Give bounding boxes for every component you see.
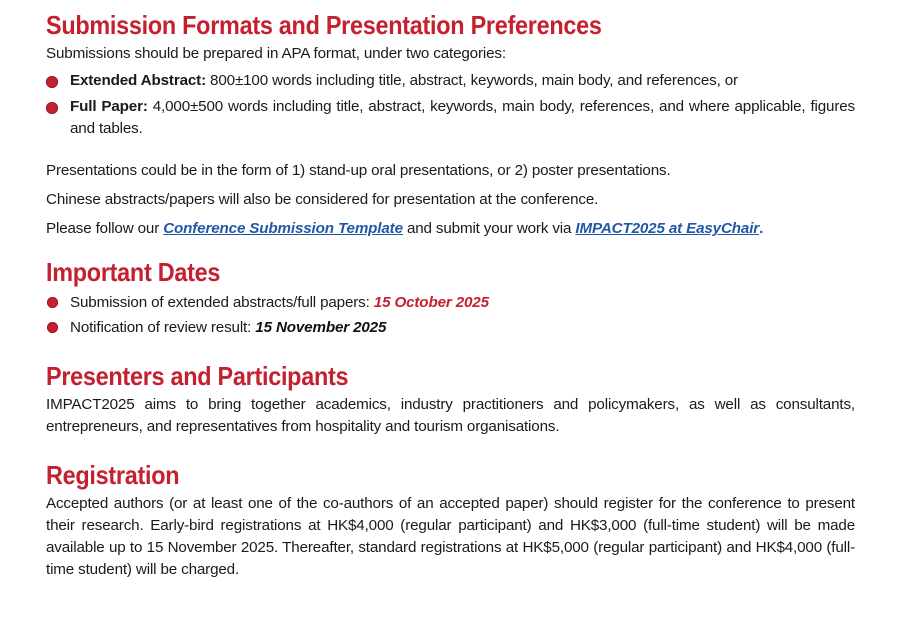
- bullet-label-extended-abstract: Extended Abstract:: [70, 72, 206, 89]
- link-conference-submission-template[interactable]: Conference Submission Template: [163, 220, 403, 237]
- note-chinese-abstracts: Chinese abstracts/papers will also be co…: [46, 189, 855, 210]
- date-value-submission: 15 October 2025: [374, 294, 489, 311]
- important-dates-list: Submission of extended abstracts/full pa…: [46, 292, 855, 339]
- bullet-dot-icon: [47, 297, 58, 308]
- bullet-dot-icon: [46, 102, 58, 114]
- bullet-label-full-paper: Full Paper:: [70, 98, 148, 115]
- bullet-text-extended-abstract: 800±100 words including title, abstract,…: [206, 72, 738, 89]
- presenters-paragraph: IMPACT2025 aims to bring together academ…: [46, 394, 855, 438]
- bullet-dot-icon: [46, 76, 58, 88]
- submission-notes: Presentations could be in the form of 1)…: [46, 160, 855, 239]
- date-label-submission: Submission of extended abstracts/full pa…: [70, 294, 374, 311]
- note-follow-template: Please follow our Conference Submission …: [46, 218, 855, 239]
- follow-suffix-text: .: [759, 220, 763, 237]
- submission-format-list: Extended Abstract: 800±100 words includi…: [46, 70, 855, 140]
- document-page: Submission Formats and Presentation Pref…: [0, 0, 900, 624]
- heading-registration: Registration: [46, 460, 774, 490]
- date-label-notification: Notification of review result:: [70, 319, 255, 336]
- list-item: Notification of review result: 15 Novemb…: [46, 317, 855, 339]
- document-content: Submission Formats and Presentation Pref…: [46, 10, 855, 581]
- follow-middle-text: and submit your work via: [403, 220, 576, 237]
- bullet-text-full-paper: 4,000±500 words including title, abstrac…: [70, 98, 855, 137]
- follow-prefix-text: Please follow our: [46, 220, 163, 237]
- bullet-dot-icon: [47, 322, 58, 333]
- note-presentation-forms: Presentations could be in the form of 1)…: [46, 160, 855, 181]
- date-value-notification: 15 November 2025: [255, 319, 386, 336]
- list-item: Submission of extended abstracts/full pa…: [46, 292, 855, 314]
- heading-presenters-participants: Presenters and Participants: [46, 361, 774, 391]
- list-item: Extended Abstract: 800±100 words includi…: [46, 70, 855, 92]
- submission-intro-text: Submissions should be prepared in APA fo…: [46, 43, 855, 64]
- list-item: Full Paper: 4,000±500 words including ti…: [46, 96, 855, 140]
- heading-submission-formats: Submission Formats and Presentation Pref…: [46, 10, 774, 40]
- link-impact2025-easychair[interactable]: IMPACT2025 at EasyChair: [575, 220, 759, 237]
- registration-paragraph: Accepted authors (or at least one of the…: [46, 493, 855, 581]
- heading-important-dates: Important Dates: [46, 257, 774, 287]
- spacer: [46, 144, 855, 160]
